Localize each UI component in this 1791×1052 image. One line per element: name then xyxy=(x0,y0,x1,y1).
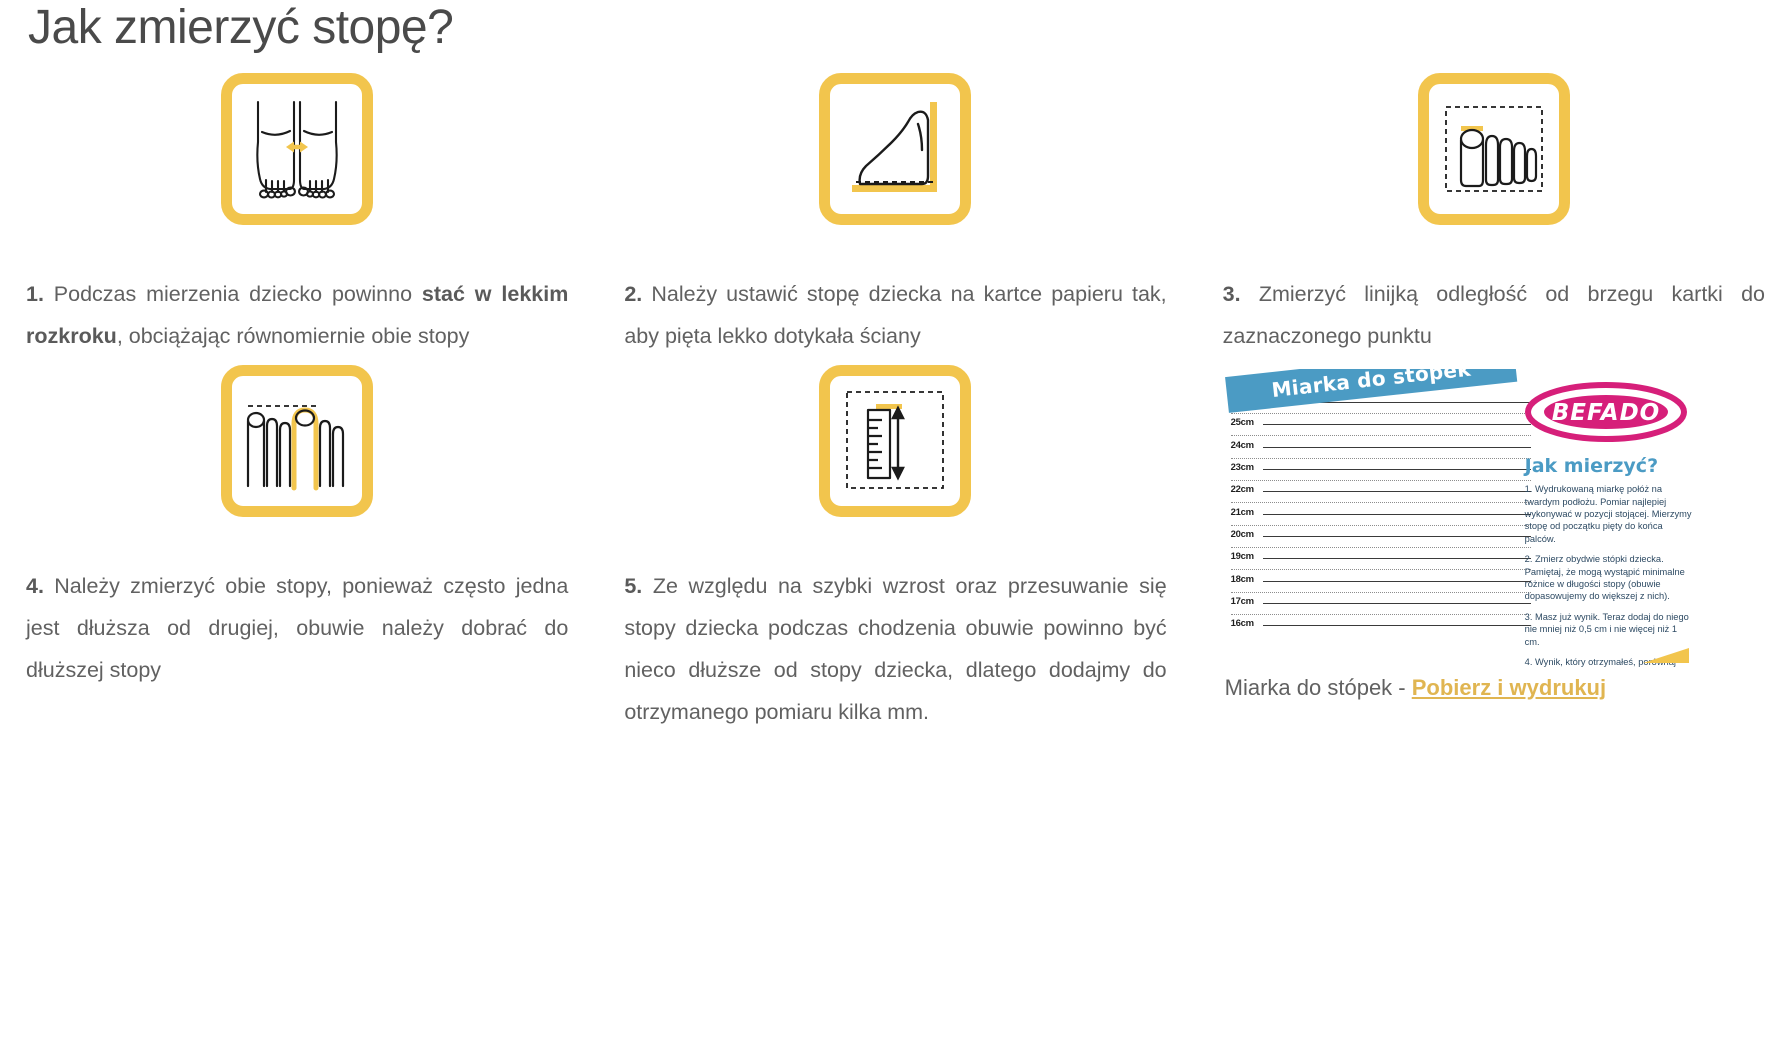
ruler-solid-line xyxy=(1263,558,1531,559)
page-title: Jak zmierzyć stopę? xyxy=(24,0,1767,61)
ruler-row: 23cm xyxy=(1231,462,1531,484)
promo-triangle-decoration xyxy=(1643,648,1689,663)
ruler-row: 17cm xyxy=(1231,596,1531,618)
step-5-number: 5. xyxy=(624,574,642,598)
step-card-4: 4. Należy zmierzyć obie stopy, ponieważ … xyxy=(24,357,570,733)
ruler-dotted-line xyxy=(1231,502,1531,503)
step-5-text: 5. Ze względu na szybki wzrost oraz prze… xyxy=(622,565,1168,733)
step-1-text: 1. Podczas mierzenia dziecko powinno sta… xyxy=(24,273,570,357)
ruler-solid-line xyxy=(1263,469,1531,470)
ruler-label: 21cm xyxy=(1231,507,1254,518)
ruler-solid-line xyxy=(1263,581,1531,582)
promo-paragraph-2: 2. Zmierz obydwie stópki dziecka. Pamięt… xyxy=(1525,553,1693,603)
printable-ruler-image[interactable]: 26cm 25cm 24cm 23cm 22cm 21cm 20cm 19cm … xyxy=(1223,369,1695,669)
ruler-row: 16cm xyxy=(1231,618,1531,640)
promo-paragraph-3: 3. Masz już wynik. Teraz dodaj do niego … xyxy=(1525,611,1693,648)
ruler-dotted-line xyxy=(1231,592,1531,593)
step-2-text-before: Należy ustawić stopę dziecka na kartce p… xyxy=(624,282,1166,348)
ruler-row: 24cm xyxy=(1231,440,1531,462)
step-4-number: 4. xyxy=(26,574,44,598)
promo-instructions: Jak mierzyć? 1. Wydrukowaną miarkę połóż… xyxy=(1525,455,1693,669)
ruler-scale: 26cm 25cm 24cm 23cm 22cm 21cm 20cm 19cm … xyxy=(1231,395,1531,663)
step-5-icon-wrap xyxy=(622,357,1168,565)
step-1-number: 1. xyxy=(26,282,44,306)
ruler-label: 19cm xyxy=(1231,551,1254,562)
ruler-dotted-line xyxy=(1231,413,1531,414)
ruler-label: 25cm xyxy=(1231,417,1254,428)
promo-paragraph-1: 1. Wydrukowaną miarkę połóż na twardym p… xyxy=(1525,483,1693,545)
ruler-dotted-line xyxy=(1231,525,1531,526)
ruler-dotted-line xyxy=(1231,614,1531,615)
ruler-solid-line xyxy=(1263,625,1531,626)
ruler-label: 20cm xyxy=(1231,529,1254,540)
step-2-text: 2. Należy ustawić stopę dziecka na kartc… xyxy=(622,273,1168,357)
ruler-row: 20cm xyxy=(1231,529,1531,551)
promo-block: 26cm 25cm 24cm 23cm 22cm 21cm 20cm 19cm … xyxy=(1221,357,1767,701)
ruler-dotted-line xyxy=(1231,480,1531,481)
ruler-row: 18cm xyxy=(1231,574,1531,596)
toes-marked-point-icon xyxy=(1418,73,1570,225)
step-1-text-before: Podczas mierzenia dziecko powinno xyxy=(44,282,422,306)
ruler-row: 25cm xyxy=(1231,417,1531,439)
ruler-solid-line xyxy=(1263,491,1531,492)
ruler-solid-line xyxy=(1263,447,1531,448)
ruler-label: 17cm xyxy=(1231,596,1254,607)
step-1-icon-wrap xyxy=(24,61,570,273)
ruler-label: 24cm xyxy=(1231,440,1254,451)
ruler-dotted-line xyxy=(1231,458,1531,459)
download-print-link[interactable]: Pobierz i wydrukuj xyxy=(1412,675,1606,700)
promo-caption-text: Miarka do stópek - xyxy=(1225,675,1412,700)
promo-heading: Jak mierzyć? xyxy=(1525,455,1693,477)
ruler-solid-line xyxy=(1263,514,1531,515)
two-feet-stance-icon xyxy=(221,73,373,225)
ruler-label: 16cm xyxy=(1231,618,1254,629)
ruler-dotted-line xyxy=(1231,435,1531,436)
step-card-2: 2. Należy ustawić stopę dziecka na kartc… xyxy=(622,61,1168,357)
ruler-dotted-line xyxy=(1231,547,1531,548)
promo-caption: Miarka do stópek - Pobierz i wydrukuj xyxy=(1221,675,1767,701)
step-1-text-after: , obciążając równomiernie obie stopy xyxy=(117,324,470,348)
step-2-number: 2. xyxy=(624,282,642,306)
ruler-dotted-line xyxy=(1231,569,1531,570)
step-4-text: 4. Należy zmierzyć obie stopy, ponieważ … xyxy=(24,565,570,691)
step-card-1: 1. Podczas mierzenia dziecko powinno sta… xyxy=(24,61,570,357)
ruler-row: 22cm xyxy=(1231,484,1531,506)
step-3-text-before: Zmierzyć linijką odległość od brzegu kar… xyxy=(1223,282,1765,348)
befado-logo: BEFADO xyxy=(1523,379,1689,445)
ruler-solid-line xyxy=(1263,536,1531,537)
step-4-text-before: Należy zmierzyć obie stopy, ponieważ czę… xyxy=(26,574,568,682)
how-to-measure-foot-page: Jak zmierzyć stopę? xyxy=(0,0,1791,1052)
step-3-text: 3. Zmierzyć linijką odległość od brzegu … xyxy=(1221,273,1767,357)
svg-text:BEFADO: BEFADO xyxy=(1551,400,1659,426)
ruler-row: 19cm xyxy=(1231,551,1531,573)
step-4-icon-wrap xyxy=(24,357,570,565)
ruler-label: 22cm xyxy=(1231,484,1254,495)
ruler-measure-icon xyxy=(819,365,971,517)
step-5-text-before: Ze względu na szybki wzrost oraz przesuw… xyxy=(624,574,1166,724)
ruler-row: 21cm xyxy=(1231,507,1531,529)
ruler-solid-line xyxy=(1263,424,1531,425)
steps-grid: 1. Podczas mierzenia dziecko powinno sta… xyxy=(24,61,1767,733)
step-3-icon-wrap xyxy=(1221,61,1767,273)
ruler-solid-line xyxy=(1263,603,1531,604)
both-feet-compare-icon xyxy=(221,365,373,517)
step-3-number: 3. xyxy=(1223,282,1241,306)
step-card-5: 5. Ze względu na szybki wzrost oraz prze… xyxy=(622,357,1168,733)
ruler-label: 23cm xyxy=(1231,462,1254,473)
promo-card: 26cm 25cm 24cm 23cm 22cm 21cm 20cm 19cm … xyxy=(1221,357,1767,733)
foot-against-wall-icon xyxy=(819,73,971,225)
ruler-label: 18cm xyxy=(1231,574,1254,585)
step-2-icon-wrap xyxy=(622,61,1168,273)
step-card-3: 3. Zmierzyć linijką odległość od brzegu … xyxy=(1221,61,1767,357)
